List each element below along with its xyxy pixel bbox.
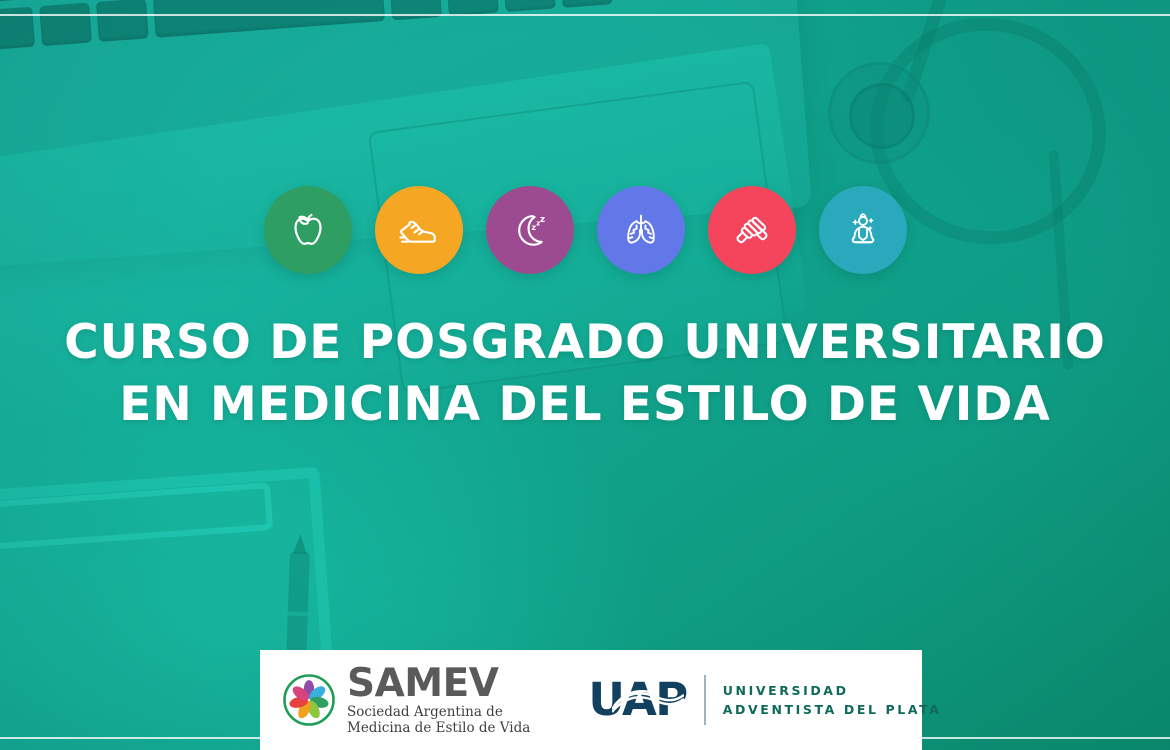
uap-subtitle-line-2: ADVENTISTA DEL PLATA — [723, 702, 942, 717]
uap-subtitle-line-1: UNIVERSIDAD — [723, 683, 849, 698]
title-line-2: EN MEDICINA DEL ESTILO DE VIDA — [0, 374, 1170, 436]
pillar-physical-activity[interactable] — [375, 186, 463, 274]
pillar-relationships[interactable] — [708, 186, 796, 274]
uap-mark: UAP — [588, 677, 686, 723]
sponsor-logo-bar: SAMEV Sociedad Argentina de Medicina de … — [260, 650, 922, 750]
apple-icon — [285, 207, 331, 253]
samev-tagline: Sociedad Argentina de Medicina de Estilo… — [347, 704, 530, 737]
pillar-avoid-toxics[interactable] — [597, 186, 685, 274]
title-line-1: CURSO DE POSGRADO UNIVERSITARIO — [0, 312, 1170, 374]
running-shoe-icon — [395, 206, 443, 254]
uap-divider — [704, 675, 706, 725]
handshake-icon — [728, 206, 776, 254]
poster-canvas: z z z — [0, 0, 1170, 750]
pillar-sleep[interactable]: z z z — [486, 186, 574, 274]
lungs-icon — [618, 207, 664, 253]
samev-text-block: SAMEV Sociedad Argentina de Medicina de … — [347, 664, 530, 737]
uap-wordmark: UAP — [588, 673, 686, 726]
samev-flower-icon — [282, 673, 336, 727]
pillar-nutrition[interactable] — [264, 186, 352, 274]
moon-sleep-icon: z z z — [507, 207, 553, 253]
svg-text:z: z — [540, 215, 545, 225]
samev-tagline-line-1: Sociedad Argentina de — [347, 704, 503, 720]
meditation-icon — [840, 207, 886, 253]
samev-tagline-line-2: Medicina de Estilo de Vida — [347, 720, 530, 736]
samev-logo-lockup[interactable]: SAMEV Sociedad Argentina de Medicina de … — [282, 664, 530, 737]
uap-logo-lockup[interactable]: UAP UNIVERSIDAD ADVENTISTA DEL PLATA — [588, 675, 941, 725]
uap-subtitle: UNIVERSIDAD ADVENTISTA DEL PLATA — [723, 681, 942, 719]
samev-wordmark: SAMEV — [347, 661, 498, 706]
pillar-icon-row: z z z — [0, 186, 1170, 274]
top-rule-line — [0, 14, 1170, 16]
pillar-mindfulness[interactable] — [819, 186, 907, 274]
poster-title: CURSO DE POSGRADO UNIVERSITARIO EN MEDIC… — [0, 312, 1170, 436]
